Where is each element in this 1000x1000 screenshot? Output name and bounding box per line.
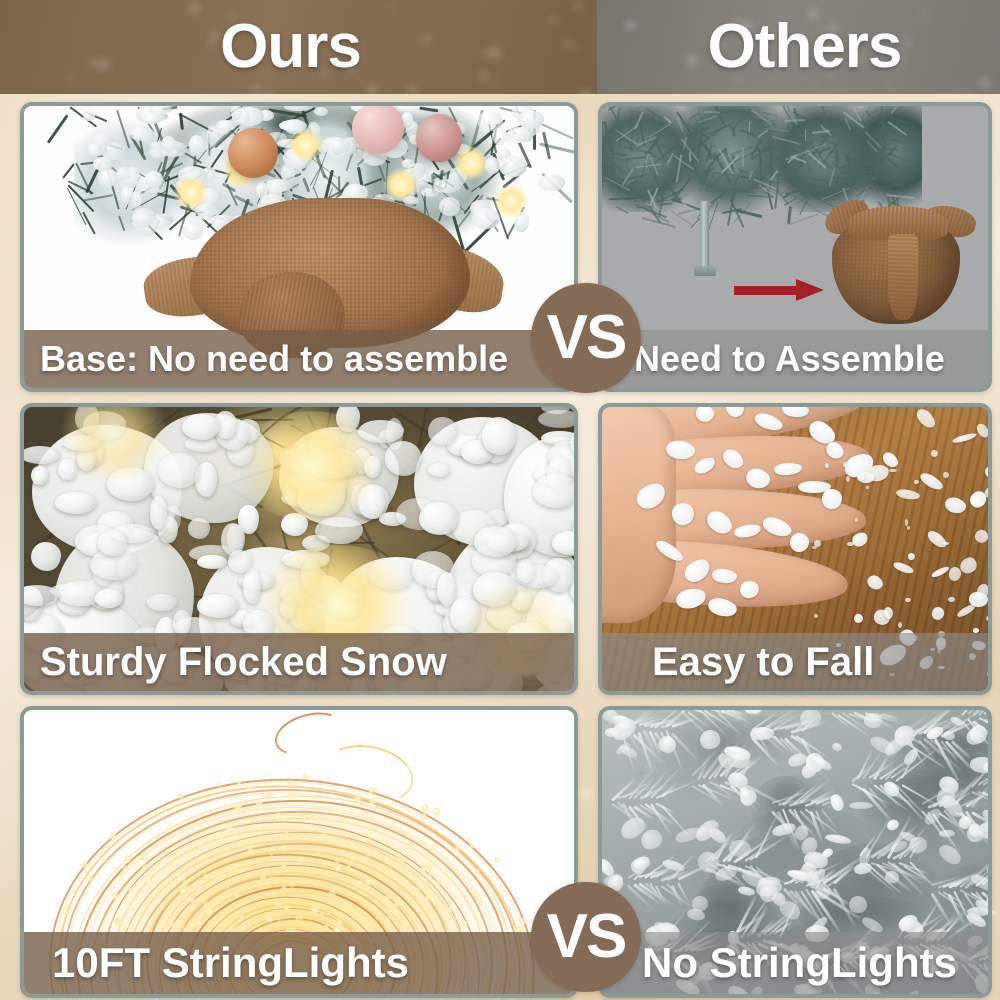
comparison-row-1: Base: No need to assemble Need to Assemb…	[0, 102, 1000, 392]
comparison-rows: Base: No need to assemble Need to Assemb…	[0, 94, 1000, 1000]
header-ours-panel: Ours	[0, 0, 597, 94]
comparison-header: Ours Others	[0, 0, 1000, 94]
comparison-row-3: 10FT StringLights No StringLights VS	[0, 706, 1000, 998]
ours-lights-label: 10FT StringLights	[24, 932, 574, 994]
header-others-panel: Others	[597, 0, 1000, 94]
ours-card-flocking[interactable]: Sturdy Flocked Snow	[20, 403, 578, 695]
ours-card-base[interactable]: Base: No need to assemble	[20, 102, 578, 392]
others-flocking-label: Easy to Fall	[602, 633, 988, 691]
header-ours-title: Ours	[220, 16, 361, 78]
others-card-lights[interactable]: No StringLights	[598, 706, 992, 998]
assembly-arrow-icon	[734, 281, 826, 299]
ours-flocking-label: Sturdy Flocked Snow	[24, 633, 574, 691]
ours-base-label: Base: No need to assemble	[24, 330, 574, 388]
others-base-label: Need to Assemble	[602, 330, 988, 388]
others-card-base[interactable]: Need to Assemble	[598, 102, 992, 392]
ours-card-lights[interactable]: 10FT StringLights	[20, 706, 578, 998]
header-others-title: Others	[708, 16, 902, 78]
comparison-row-2: Sturdy Flocked Snow Easy to Fall VS	[0, 403, 1000, 695]
others-lights-label: No StringLights	[602, 932, 988, 994]
vs-badge-row-1: VS	[531, 283, 641, 393]
vs-badge-row-2: VS	[531, 882, 641, 992]
others-card-flocking[interactable]: Easy to Fall	[598, 403, 992, 695]
